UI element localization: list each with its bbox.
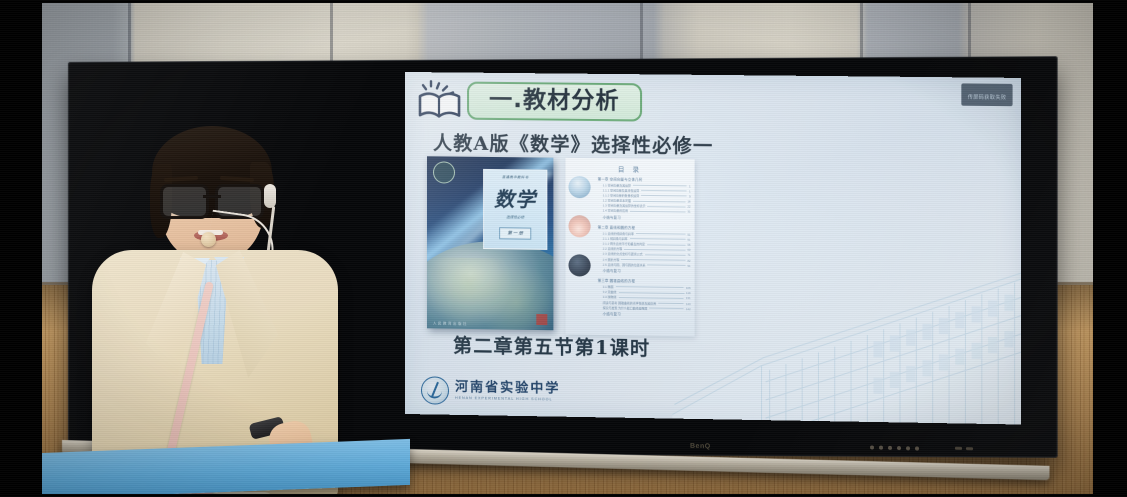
toc-thumb-chapter3 bbox=[568, 254, 590, 276]
toc-spacer bbox=[598, 317, 691, 322]
toc-entry-label: 阅读与思考 圆锥曲线的光学性质及其应用 bbox=[603, 300, 656, 305]
textbook-series-line: 普通高中教科书 bbox=[484, 174, 546, 180]
status-badge[interactable]: 传屏码获取失败 bbox=[962, 83, 1013, 106]
toc-entry-label: 1.1 空间向量及其运算 bbox=[603, 183, 631, 187]
toc-entry-label: 1.1.2 空间向量的数量积运算 bbox=[603, 193, 639, 197]
toc-section-footer: 小结与复习 bbox=[598, 268, 691, 274]
toc-leader-line bbox=[615, 286, 683, 288]
glasses-lens-left bbox=[160, 184, 209, 219]
teacher-presenter bbox=[88, 122, 338, 497]
toc-leader-line bbox=[633, 200, 685, 202]
toc-leader-line bbox=[649, 308, 684, 310]
school-emblem-icon bbox=[421, 376, 449, 404]
benq-brand-logo: BenQ bbox=[690, 443, 711, 451]
toc-section-heading: 第一章 空间向量与立体几何 bbox=[598, 176, 691, 182]
toc-leader-line bbox=[641, 195, 687, 197]
school-name-block: 河南省实验中学 HENAN EXPERIMENTAL HIGH SCHOOL bbox=[455, 381, 560, 402]
toc-page-number: 31 bbox=[687, 210, 690, 214]
panel-key[interactable] bbox=[870, 445, 874, 449]
toc-page-number: 16 bbox=[687, 200, 690, 204]
textbook-title-label: 普通高中教科书 数学 选择性必修 第 一 册 bbox=[483, 169, 547, 250]
toc-entry-list: 第一章 空间向量与立体几何1.1 空间向量及其运算11.1.1 空间向量及其线性… bbox=[598, 176, 691, 322]
toc-entry-label: 3.2 双曲线 bbox=[603, 290, 617, 294]
toc-page-number: 119 bbox=[686, 291, 691, 295]
toc-entry-label: 2.5 直线与圆、圆与圆的位置关系 bbox=[603, 262, 646, 267]
toc-entry-label: 探究与发现 为什么截口曲线是椭圆 bbox=[603, 306, 648, 311]
panel-key[interactable] bbox=[897, 446, 901, 450]
textbook-volume: 第 一 册 bbox=[499, 227, 531, 239]
publisher-seal-icon bbox=[433, 161, 455, 183]
toc-leader-line bbox=[641, 190, 687, 192]
toc-section-heading: 第二章 直线和圆的方程 bbox=[598, 225, 691, 231]
frame-border-right bbox=[1093, 0, 1127, 497]
school-name-cn: 河南省实验中学 bbox=[455, 381, 560, 396]
table-of-contents-page: 目 录 第一章 空间向量与立体几何1.1 空间向量及其运算11.1.1 空间向量… bbox=[565, 158, 694, 337]
textbook-corner-stamp bbox=[536, 314, 547, 325]
toc-entry-label: 1.1.1 空间向量及其线性运算 bbox=[603, 188, 639, 192]
toc-leader-line bbox=[621, 259, 685, 261]
toc-page-number: 1 bbox=[689, 184, 691, 188]
microphone-capsule-icon bbox=[201, 232, 216, 247]
toc-page-number: 131 bbox=[686, 296, 691, 300]
toc-leader-line bbox=[648, 206, 686, 207]
presentation-slide[interactable]: 一.教材分析 传屏码获取失败 人教A版《数学》选择性必修一 普通高中教科书 数学… bbox=[405, 72, 1021, 425]
usb-port[interactable] bbox=[955, 447, 962, 450]
toc-leader-line bbox=[648, 265, 686, 267]
screenshot-scene: 一.教材分析 传屏码获取失败 人教A版《数学》选择性必修一 普通高中教科书 数学… bbox=[0, 0, 1127, 497]
toc-section-footer: 小结与复习 bbox=[598, 214, 691, 220]
slide-title-text: 一.教材分析 bbox=[489, 88, 620, 114]
toc-entry-label: 2.1 直线的倾斜角与斜率 bbox=[603, 231, 634, 235]
toc-entry-label: 2.4 圆的方程 bbox=[603, 257, 620, 261]
toc-page-number: 1 bbox=[689, 189, 691, 193]
toc-entry-label: 3.3 抛物线 bbox=[603, 295, 617, 299]
toc-entry: 1.1 空间向量及其运算1 bbox=[598, 183, 691, 188]
panel-key[interactable] bbox=[888, 446, 892, 450]
toc-page-number: 56 bbox=[687, 243, 690, 247]
toc-thumb-chapter2 bbox=[568, 215, 590, 237]
toc-page-number: 60 bbox=[687, 248, 690, 252]
status-badge-text: 传屏码获取失败 bbox=[968, 95, 1007, 101]
toc-entry-label: 2.1.1 倾斜角与斜率 bbox=[603, 236, 628, 240]
toc-thumb-chapter1 bbox=[568, 176, 590, 198]
earth-illustration bbox=[427, 240, 553, 330]
slide-title-banner: 一.教材分析 bbox=[467, 82, 642, 122]
toc-leader-line bbox=[658, 303, 684, 304]
textbook-publisher: 人民教育出版社 bbox=[433, 320, 468, 326]
textbook-subtitle: 人教A版《数学》选择性必修一 bbox=[433, 128, 713, 158]
toc-leader-line bbox=[624, 249, 685, 251]
toc-page-number: 91 bbox=[687, 264, 690, 268]
frame-border-left bbox=[0, 0, 42, 497]
toc-thumbnail-column bbox=[568, 176, 594, 294]
glasses-bridge bbox=[203, 195, 221, 198]
toc-leader-line bbox=[647, 244, 685, 246]
open-book-icon bbox=[417, 80, 463, 121]
toc-page-number: 140 bbox=[686, 302, 691, 306]
panel-key[interactable] bbox=[915, 447, 919, 451]
lesson-label: 第二章第五节第1课时 bbox=[453, 331, 650, 361]
toc-page-number: 142 bbox=[686, 307, 691, 311]
panel-key[interactable] bbox=[906, 446, 910, 450]
toc-heading: 目 录 bbox=[618, 163, 642, 173]
textbook-title-cn: 数学 bbox=[484, 183, 546, 213]
toc-leader-line bbox=[630, 211, 685, 213]
toc-leader-line bbox=[630, 238, 686, 240]
toc-leader-line bbox=[636, 233, 686, 235]
toc-entry-label: 2.3 直线的交点坐标与距离公式 bbox=[603, 252, 643, 257]
school-building-watermark bbox=[668, 246, 1020, 425]
headset-earpiece bbox=[264, 184, 276, 208]
toc-entry-label: 1.2 空间向量基本定理 bbox=[603, 198, 631, 202]
panel-key[interactable] bbox=[879, 446, 883, 450]
toc-page-number: 51 bbox=[687, 238, 690, 242]
toc-entry-label: 2.1.2 两条直线平行和垂直的判定 bbox=[603, 242, 645, 247]
toc-page-number: 82 bbox=[687, 258, 690, 262]
toc-page-number: 106 bbox=[686, 286, 691, 290]
school-logo: 河南省实验中学 HENAN EXPERIMENTAL HIGH SCHOOL bbox=[421, 376, 560, 406]
toc-page-number: 22 bbox=[687, 205, 690, 209]
panel-io-ports[interactable] bbox=[955, 447, 973, 450]
textbook-cover-image: 普通高中教科书 数学 选择性必修 第 一 册 人民教育出版社 bbox=[427, 156, 553, 330]
toc-section-footer: 小结与复习 bbox=[598, 311, 691, 317]
school-name-en: HENAN EXPERIMENTAL HIGH SCHOOL bbox=[455, 397, 560, 402]
toc-leader-line bbox=[645, 254, 686, 256]
usb-port[interactable] bbox=[966, 447, 973, 450]
toc-entry: 1.1.1 空间向量及其线性运算1 bbox=[598, 188, 691, 193]
toc-page-number: 71 bbox=[687, 253, 690, 257]
toc-page-number: 51 bbox=[687, 232, 690, 236]
toc-leader-line bbox=[618, 292, 684, 294]
toc-entry-label: 2.2 直线的方程 bbox=[603, 247, 622, 251]
toc-leader-line bbox=[633, 185, 687, 187]
toc-section-heading: 第三章 圆锥曲线的方程 bbox=[598, 278, 691, 284]
toc-entry-label: 1.4 空间向量的应用 bbox=[603, 209, 628, 213]
toc-entry-label: 3.1 椭圆 bbox=[603, 285, 614, 289]
textbook-subtitle-small: 选择性必修 bbox=[484, 215, 546, 221]
toc-page-number: 9 bbox=[689, 194, 691, 198]
toc-leader-line bbox=[618, 297, 683, 299]
frame-border-top bbox=[0, 0, 1127, 3]
